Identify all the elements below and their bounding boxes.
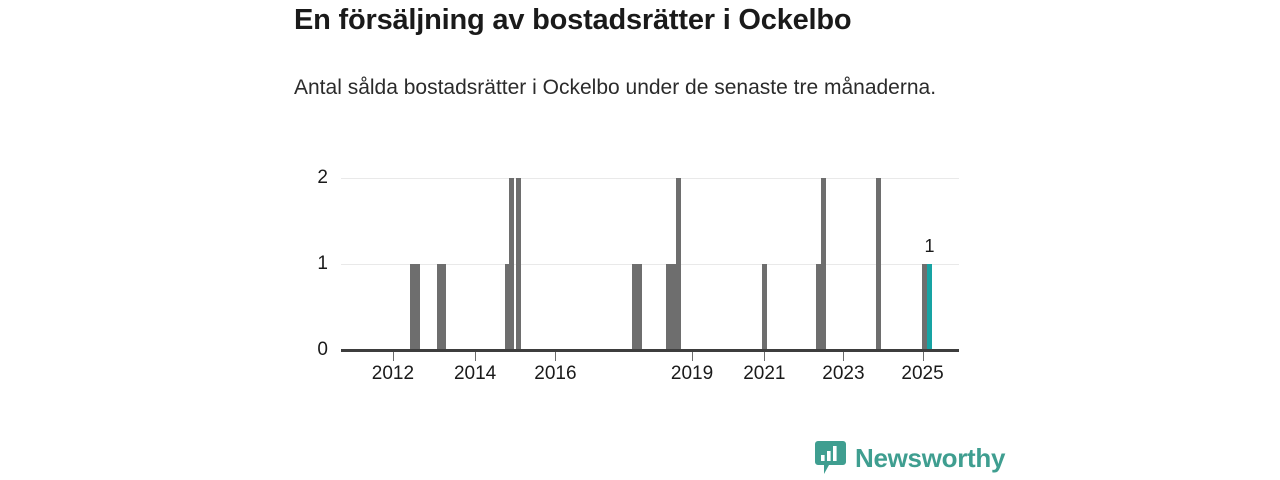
bar[interactable] bbox=[415, 264, 420, 350]
bar[interactable] bbox=[762, 264, 767, 350]
logo-wordmark: Newsworthy bbox=[855, 445, 1005, 471]
x-axis-tick-label: 2019 bbox=[662, 363, 722, 385]
x-axis-tick bbox=[923, 352, 924, 361]
y-axis-tick-label: 0 bbox=[294, 340, 328, 359]
y-axis-tick-label: 1 bbox=[294, 254, 328, 273]
y-axis-tick-label: 2 bbox=[294, 168, 328, 187]
x-axis-tick-label: 2012 bbox=[363, 363, 423, 385]
x-axis-tick-label: 2021 bbox=[734, 363, 794, 385]
x-axis-tick bbox=[393, 352, 394, 361]
bar[interactable] bbox=[509, 178, 514, 350]
x-axis-tick-label: 2014 bbox=[445, 363, 505, 385]
bar-value-label: 1 bbox=[909, 236, 949, 257]
x-axis-tick bbox=[692, 352, 693, 361]
x-axis-tick-label: 2025 bbox=[893, 363, 953, 385]
newsworthy-logo: Newsworthy bbox=[815, 440, 985, 476]
bar[interactable] bbox=[922, 264, 927, 350]
bar-chart: 012 2012201420162019202120232025 1 bbox=[294, 160, 974, 395]
x-axis-tick-label: 2016 bbox=[525, 363, 585, 385]
bar[interactable] bbox=[876, 178, 881, 350]
bar[interactable] bbox=[821, 178, 826, 350]
page-title: En försäljning av bostadsrätter i Ockelb… bbox=[294, 2, 1054, 38]
chart-page: En försäljning av bostadsrätter i Ockelb… bbox=[0, 0, 1280, 480]
chart-bubble-icon bbox=[815, 441, 846, 475]
bar[interactable] bbox=[676, 178, 681, 350]
x-axis-tick bbox=[843, 352, 844, 361]
x-axis-tick-label: 2023 bbox=[813, 363, 873, 385]
plot-area bbox=[341, 178, 959, 350]
page-subtitle: Antal sålda bostadsrätter i Ockelbo unde… bbox=[294, 72, 974, 103]
x-axis-line bbox=[341, 349, 959, 352]
x-axis-tick bbox=[764, 352, 765, 361]
x-axis-tick bbox=[475, 352, 476, 361]
x-axis-tick bbox=[555, 352, 556, 361]
bar[interactable] bbox=[637, 264, 642, 350]
bar[interactable] bbox=[441, 264, 446, 350]
bar[interactable] bbox=[516, 178, 521, 350]
bar-highlighted[interactable] bbox=[927, 264, 932, 350]
